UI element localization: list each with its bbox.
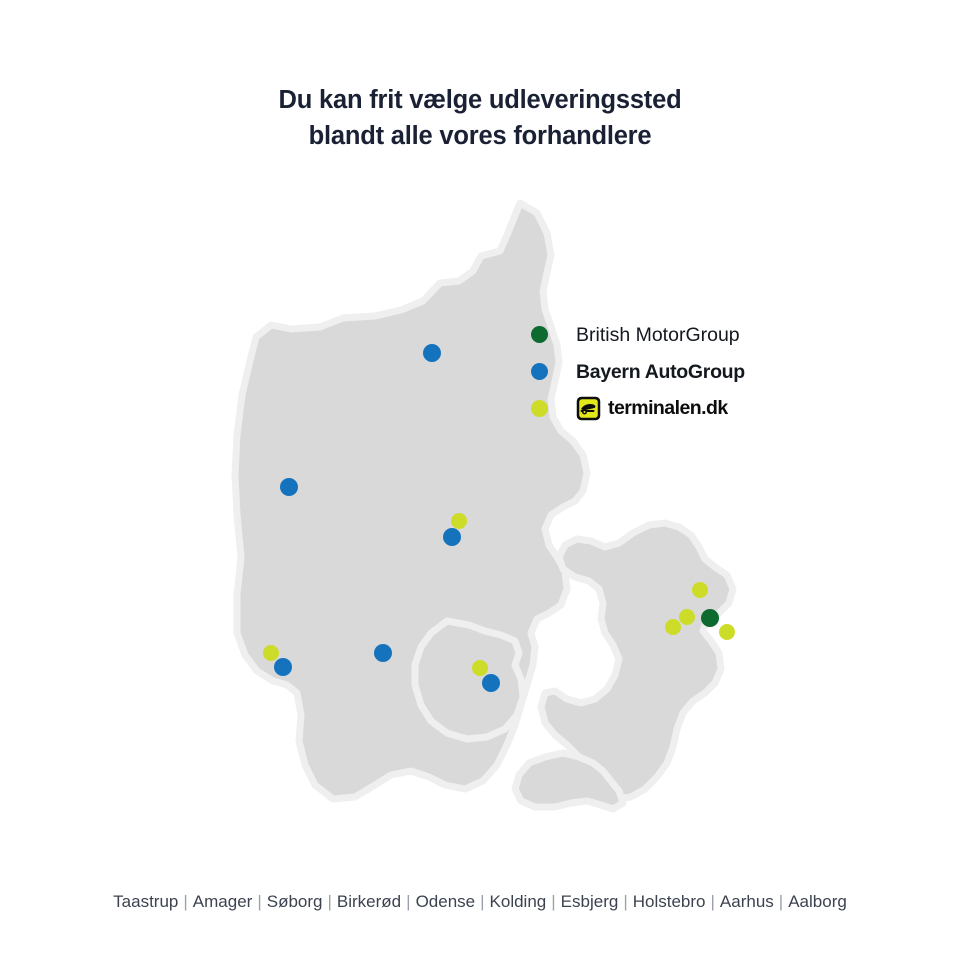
city-separator: | <box>706 892 720 911</box>
city-name-aalborg: Aalborg <box>788 892 847 911</box>
page-title-line-1: Du kan frit vælge udleveringssted <box>0 82 960 118</box>
city-separator: | <box>618 892 632 911</box>
aarhus-marker[interactable] <box>443 528 461 546</box>
city-separator: | <box>322 892 336 911</box>
odense-marker[interactable] <box>482 674 500 692</box>
soborg-marker[interactable] <box>679 609 695 625</box>
city-separator: | <box>475 892 489 911</box>
legend-item-bayern-autogroup[interactable]: Bayern AutoGroup <box>531 353 831 390</box>
city-separator: | <box>546 892 560 911</box>
city-name-odense: Odense <box>416 892 476 911</box>
dealer-map-page: Du kan frit vælge udleveringssted blandt… <box>0 0 960 960</box>
taastrup-marker[interactable] <box>665 619 681 635</box>
city-separator: | <box>178 892 192 911</box>
city-name-s-borg: Søborg <box>267 892 323 911</box>
legend-label-british-motorgroup: British MotorGroup <box>576 324 740 346</box>
aarhus-terminalen-marker[interactable] <box>451 513 467 529</box>
kolding-marker[interactable] <box>374 644 392 662</box>
green-dot-icon <box>531 326 548 343</box>
esbjerg-marker[interactable] <box>274 658 292 676</box>
brand-legend: British MotorGroup Bayern AutoGroup term… <box>531 316 831 427</box>
funen-landmass <box>415 621 523 739</box>
holstebro-marker[interactable] <box>280 478 298 496</box>
city-list: Taastrup|Amager|Søborg|Birkerød|Odense|K… <box>0 890 960 914</box>
city-name-esbjerg: Esbjerg <box>561 892 619 911</box>
odense-terminalen-marker[interactable] <box>472 660 488 676</box>
city-separator: | <box>774 892 788 911</box>
page-title: Du kan frit vælge udleveringssted blandt… <box>0 82 960 154</box>
terminalen-logo-icon <box>576 396 601 421</box>
yellow-dot-icon <box>531 400 548 417</box>
copenhagen-bmg-marker[interactable] <box>701 609 719 627</box>
denmark-map <box>215 185 745 815</box>
city-name-birker-d: Birkerød <box>337 892 401 911</box>
city-name-holstebro: Holstebro <box>633 892 706 911</box>
page-title-line-2: blandt alle vores forhandlere <box>0 118 960 154</box>
city-name-aarhus: Aarhus <box>720 892 774 911</box>
aalborg-marker[interactable] <box>423 344 441 362</box>
map-landmasses <box>235 203 733 809</box>
city-separator: | <box>401 892 415 911</box>
city-name-amager: Amager <box>193 892 253 911</box>
legend-label-bayern-autogroup: Bayern AutoGroup <box>576 361 745 383</box>
amager-marker[interactable] <box>719 624 735 640</box>
jutland-landmass <box>235 203 587 799</box>
legend-item-british-motorgroup[interactable]: British MotorGroup <box>531 316 831 353</box>
blue-dot-icon <box>531 363 548 380</box>
city-separator: | <box>252 892 266 911</box>
terminalen-wordmark: terminalen.dk <box>608 397 728 420</box>
city-name-kolding: Kolding <box>490 892 547 911</box>
esbjerg-terminalen-marker[interactable] <box>263 645 279 661</box>
terminalen-logo-lockup: terminalen.dk <box>576 396 728 421</box>
denmark-map-svg <box>215 185 745 815</box>
city-name-taastrup: Taastrup <box>113 892 178 911</box>
legend-item-terminalen[interactable]: terminalen.dk <box>531 390 831 427</box>
birkerod-marker[interactable] <box>692 582 708 598</box>
